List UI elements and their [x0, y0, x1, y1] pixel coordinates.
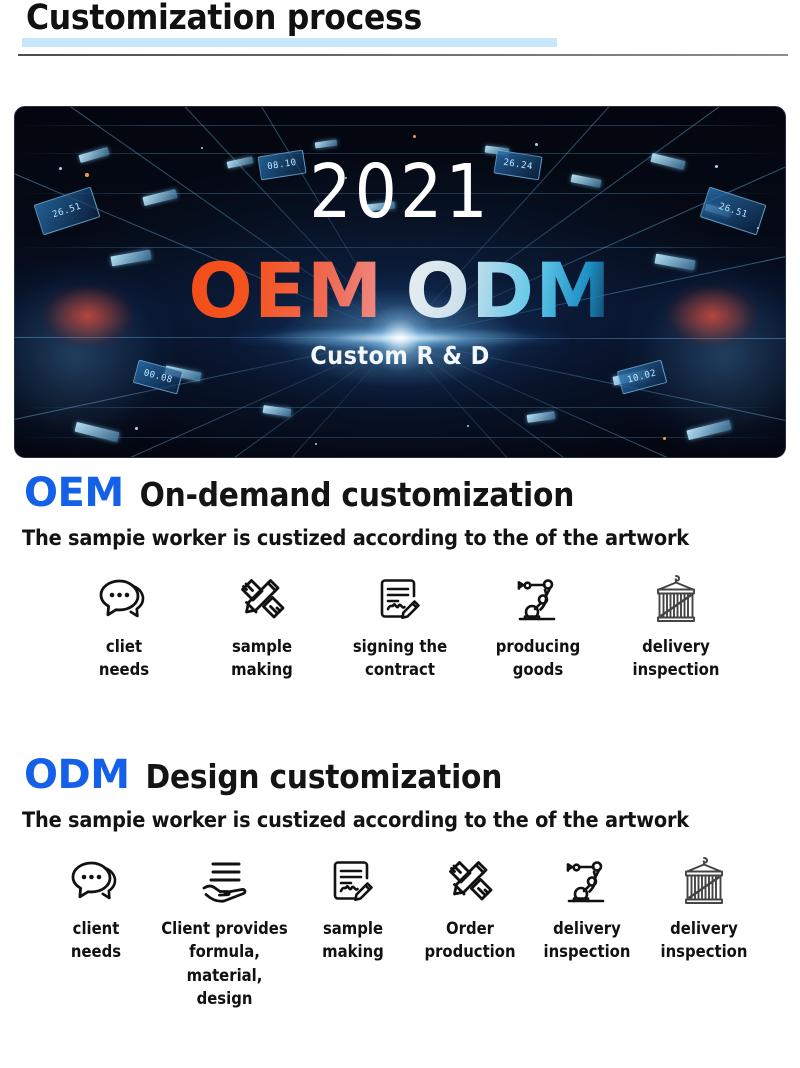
contract-signing-icon — [329, 855, 377, 907]
banner-year: 2021 — [309, 155, 490, 229]
shipping-crate-icon — [651, 573, 701, 625]
section-oem-heading: OEM On-demand customization — [0, 470, 800, 516]
page-title: Customization process — [26, 0, 422, 38]
banner-logo-oem: OEM — [188, 253, 383, 329]
contract-signing-icon — [376, 573, 424, 625]
pencil-ruler-icon — [237, 573, 287, 625]
section-odm-tag: ODM — [24, 752, 130, 798]
promo-banner: 26.51 26.51 08.10 26.24 00.08 10.02 2021… — [14, 106, 786, 458]
step-label: Client provides formula, material, desig… — [161, 917, 287, 1011]
shipping-crate-icon — [679, 855, 729, 907]
banner-subtitle: Custom R & D — [310, 341, 489, 370]
section-odm-title: Design customization — [146, 757, 503, 796]
pencil-ruler-icon — [445, 855, 495, 907]
section-odm-heading: ODM Design customization — [0, 752, 800, 798]
page-header: Customization process — [0, 0, 800, 62]
chat-bubbles-icon — [98, 573, 150, 625]
chat-bubbles-icon — [70, 855, 122, 907]
step-signing-contract[interactable]: signing the contract — [331, 573, 469, 682]
section-oem: OEM On-demand customization The sampie w… — [0, 470, 800, 682]
step-label: Order production — [424, 917, 515, 964]
step-sample-making[interactable]: sample making — [193, 573, 331, 682]
step-label: signing the contract — [353, 635, 447, 682]
step-cliet-needs[interactable]: cliet needs — [55, 573, 193, 682]
banner-text-block: 2021 OEM ODM Custom R & D — [15, 107, 785, 457]
step-label: cliet needs — [99, 635, 149, 682]
step-label: delivery inspection — [544, 917, 631, 964]
hand-documents-icon — [198, 855, 252, 907]
section-oem-subtitle: The sampie worker is custized according … — [0, 526, 800, 551]
banner-logo-row: OEM ODM — [188, 253, 611, 329]
robot-arm-icon — [512, 573, 564, 625]
step-delivery-inspection-robot[interactable]: delivery inspection — [529, 855, 646, 964]
step-label: sample making — [231, 635, 293, 682]
step-client-needs[interactable]: client needs — [38, 855, 155, 964]
step-label: delivery inspection — [633, 635, 720, 682]
step-label: sample making — [322, 917, 384, 964]
banner-logo-odm: ODM — [405, 253, 611, 329]
section-oem-title: On-demand customization — [140, 475, 575, 514]
oem-step-list: cliet needs sample making — [0, 573, 800, 682]
section-odm: ODM Design customization The sampie work… — [0, 752, 800, 1011]
step-delivery-inspection[interactable]: delivery inspection — [607, 573, 745, 682]
step-order-production[interactable]: Order production — [412, 855, 529, 964]
title-underline-bar — [22, 38, 557, 47]
step-label: delivery inspection — [661, 917, 748, 964]
step-producing-goods[interactable]: producing goods — [469, 573, 607, 682]
robot-arm-icon — [561, 855, 613, 907]
step-label: producing goods — [496, 635, 580, 682]
header-divider-rule — [18, 54, 788, 56]
section-oem-tag: OEM — [24, 470, 124, 516]
section-odm-subtitle: The sampie worker is custized according … — [0, 808, 800, 833]
step-client-provides[interactable]: Client provides formula, material, desig… — [155, 855, 295, 1011]
step-delivery-inspection-crate[interactable]: delivery inspection — [646, 855, 763, 964]
step-label: client needs — [71, 917, 121, 964]
odm-step-list: client needs Client provides formula, ma… — [0, 855, 800, 1011]
step-sample-making[interactable]: sample making — [295, 855, 412, 964]
